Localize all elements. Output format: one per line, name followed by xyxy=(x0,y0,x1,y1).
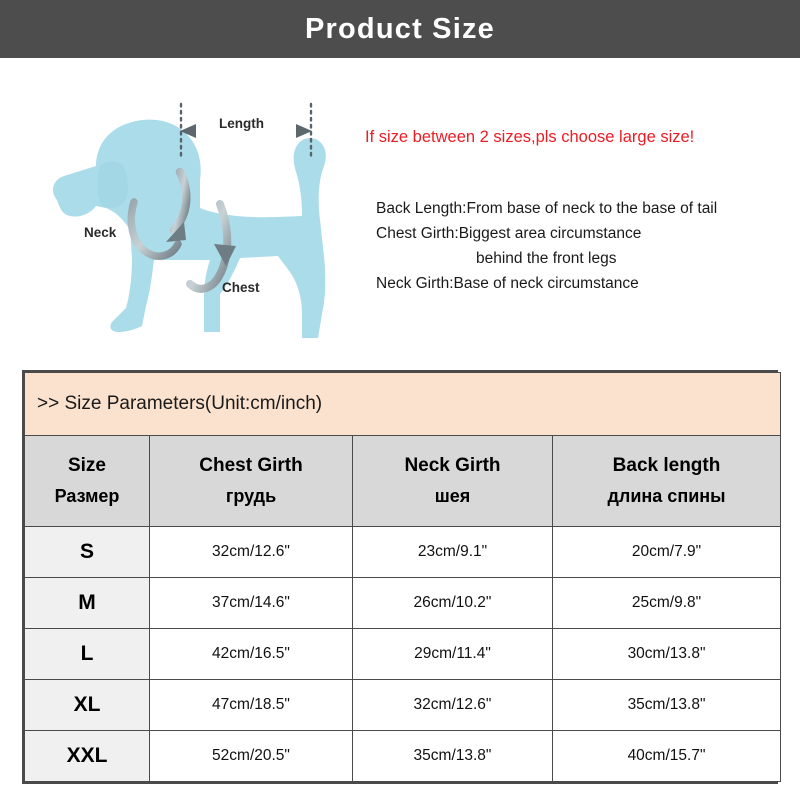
table-header-row: Size Размер Chest Girth грудь Neck Girth… xyxy=(25,436,781,527)
size-parameters-table: >> Size Parameters(Unit:cm/inch) Size Ра… xyxy=(22,370,778,784)
neck-label: Neck xyxy=(84,225,116,240)
header-neck-girth-en: Neck Girth xyxy=(353,451,552,481)
header-size-ru: Размер xyxy=(25,481,149,511)
table-row: XXL 52cm/20.5" 35cm/13.8" 40cm/15.7" xyxy=(25,731,781,782)
row-neck: 26cm/10.2" xyxy=(353,578,553,629)
row-size: S xyxy=(25,527,150,578)
header-chest-girth-ru: грудь xyxy=(150,481,352,511)
header-back-length: Back length длина спины xyxy=(553,436,781,527)
row-chest: 42cm/16.5" xyxy=(150,629,353,680)
row-neck: 29cm/11.4" xyxy=(353,629,553,680)
header-back-length-en: Back length xyxy=(553,451,780,481)
row-neck: 32cm/12.6" xyxy=(353,680,553,731)
header-size: Size Размер xyxy=(25,436,150,527)
desc-chest-girth: Chest Girth:Biggest area circumstance xyxy=(376,221,796,246)
row-neck: 23cm/9.1" xyxy=(353,527,553,578)
size-choice-notice: If size between 2 sizes,pls choose large… xyxy=(365,128,694,147)
row-size: XXL xyxy=(25,731,150,782)
length-measure-arrow xyxy=(180,104,312,158)
product-size-banner: Product Size xyxy=(0,0,800,58)
desc-chest-girth-cont: behind the front legs xyxy=(376,246,796,271)
header-neck-girth: Neck Girth шея xyxy=(353,436,553,527)
row-chest: 52cm/20.5" xyxy=(150,731,353,782)
chest-label: Chest xyxy=(222,280,260,295)
length-label: Length xyxy=(219,116,264,131)
desc-neck-girth: Neck Girth:Base of neck circumstance xyxy=(376,271,796,296)
table-row: S 32cm/12.6" 23cm/9.1" 20cm/7.9" xyxy=(25,527,781,578)
table-row: XL 47cm/18.5" 32cm/12.6" 35cm/13.8" xyxy=(25,680,781,731)
header-size-en: Size xyxy=(25,451,149,481)
row-back: 30cm/13.8" xyxy=(553,629,781,680)
header-back-length-ru: длина спины xyxy=(553,481,780,511)
row-back: 40cm/15.7" xyxy=(553,731,781,782)
row-size: L xyxy=(25,629,150,680)
row-chest: 37cm/14.6" xyxy=(150,578,353,629)
size-parameters-title: >> Size Parameters(Unit:cm/inch) xyxy=(25,373,781,436)
row-neck: 35cm/13.8" xyxy=(353,731,553,782)
row-size: XL xyxy=(25,680,150,731)
row-size: M xyxy=(25,578,150,629)
header-neck-girth-ru: шея xyxy=(353,481,552,511)
row-chest: 32cm/12.6" xyxy=(150,527,353,578)
table-row: L 42cm/16.5" 29cm/11.4" 30cm/13.8" xyxy=(25,629,781,680)
dog-silhouette-illustration xyxy=(34,80,374,360)
row-back: 35cm/13.8" xyxy=(553,680,781,731)
header-chest-girth: Chest Girth грудь xyxy=(150,436,353,527)
page-title: Product Size xyxy=(305,13,495,46)
row-back: 20cm/7.9" xyxy=(553,527,781,578)
row-back: 25cm/9.8" xyxy=(553,578,781,629)
header-chest-girth-en: Chest Girth xyxy=(150,451,352,481)
table-title-row: >> Size Parameters(Unit:cm/inch) xyxy=(25,373,781,436)
desc-back-length: Back Length:From base of neck to the bas… xyxy=(376,196,796,221)
table-row: M 37cm/14.6" 26cm/10.2" 25cm/9.8" xyxy=(25,578,781,629)
measurement-descriptions: Back Length:From base of neck to the bas… xyxy=(376,196,796,296)
row-chest: 47cm/18.5" xyxy=(150,680,353,731)
